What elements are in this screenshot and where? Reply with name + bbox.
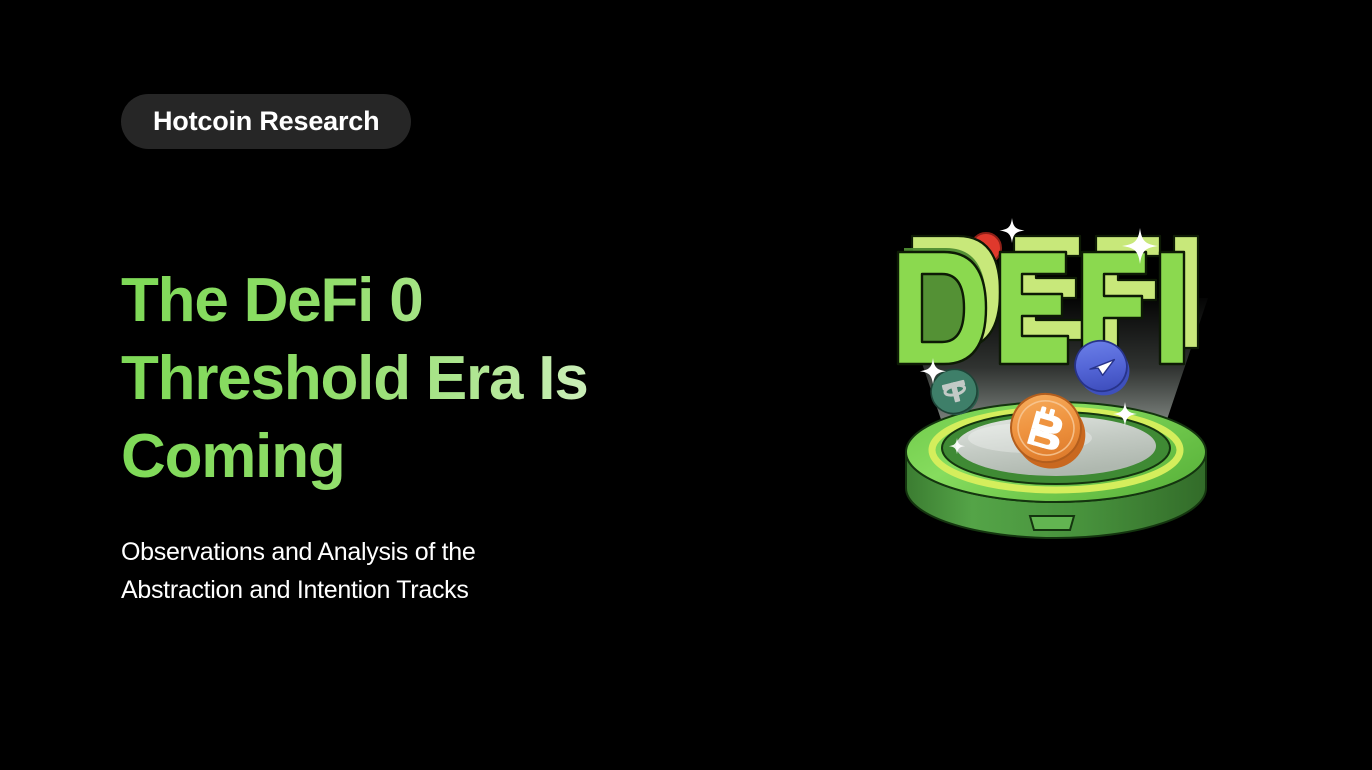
- copy-column: Hotcoin Research The DeFi 0 Threshold Er…: [121, 0, 821, 770]
- brand-badge-label: Hotcoin Research: [153, 106, 379, 137]
- defi-podium-illustration: [860, 190, 1240, 550]
- podium-notch: [1030, 516, 1074, 530]
- letter-E: [1000, 252, 1068, 364]
- page-subtitle-line-2: Abstraction and Intention Tracks: [121, 572, 681, 610]
- page-title: The DeFi 0 Threshold Era Is Coming: [121, 262, 681, 496]
- brand-badge[interactable]: Hotcoin Research: [121, 94, 411, 149]
- page-title-line-2: Threshold Era Is: [121, 340, 681, 418]
- page-subtitle-line-1: Observations and Analysis of the: [121, 534, 681, 572]
- page-subtitle: Observations and Analysis of the Abstrac…: [121, 534, 681, 609]
- page-title-line-1: The DeFi 0: [121, 262, 681, 340]
- page-title-line-3: Coming: [121, 418, 681, 496]
- banner-root: Hotcoin Research The DeFi 0 Threshold Er…: [0, 0, 1372, 770]
- letter-I: [1160, 252, 1184, 364]
